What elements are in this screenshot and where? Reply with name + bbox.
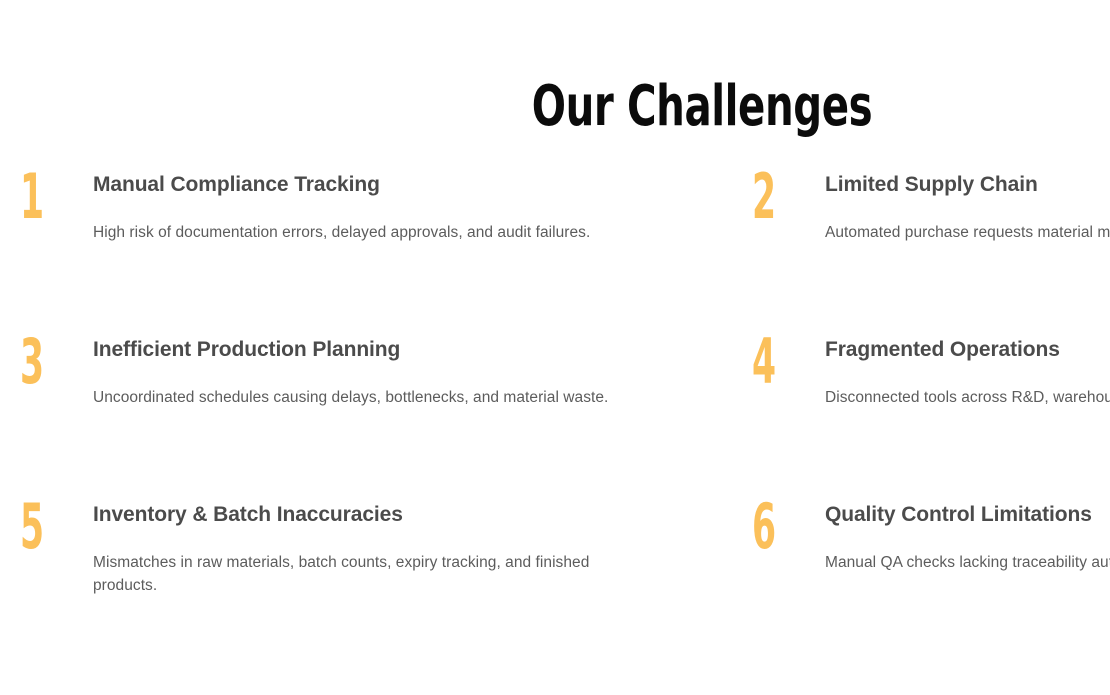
challenge-heading-1: Manual Compliance Tracking xyxy=(93,172,673,198)
challenge-description-2: Automated purchase requests material mov… xyxy=(825,198,1110,244)
challenge-description-5: Mismatches in raw materials, batch count… xyxy=(93,528,655,597)
challenge-heading-5: Inventory & Batch Inaccuracies xyxy=(93,502,673,528)
challenge-heading-2: Limited Supply Chain xyxy=(825,172,1110,198)
challenge-description-6: Manual QA checks lacking traceability au… xyxy=(825,528,1110,574)
challenge-number-4: 4 xyxy=(752,331,785,393)
challenge-heading-4: Fragmented Operations xyxy=(825,337,1110,363)
challenge-description-1: High risk of documentation errors, delay… xyxy=(93,198,655,244)
challenge-body-3: Inefficient Production Planning Uncoordi… xyxy=(93,337,673,409)
challenge-body-1: Manual Compliance Tracking High risk of … xyxy=(93,172,673,244)
challenge-body-6: Quality Control Limitations Manual QA ch… xyxy=(825,502,1110,574)
challenge-body-2: Limited Supply Chain Automated purchase … xyxy=(825,172,1110,244)
challenge-number-3: 3 xyxy=(20,331,53,393)
challenges-grid: 1 Manual Compliance Tracking High risk o… xyxy=(0,0,1110,695)
challenges-slide: Our Challenges 1 Manual Compliance Track… xyxy=(0,0,1110,695)
challenge-number-1: 1 xyxy=(20,166,53,228)
challenge-heading-6: Quality Control Limitations xyxy=(825,502,1110,528)
challenge-number-6: 6 xyxy=(752,496,785,558)
challenge-body-5: Inventory & Batch Inaccuracies Mismatche… xyxy=(93,502,673,597)
challenge-heading-3: Inefficient Production Planning xyxy=(93,337,673,363)
challenge-description-3: Uncoordinated schedules causing delays, … xyxy=(93,363,655,409)
challenge-number-5: 5 xyxy=(20,496,53,558)
challenge-description-4: Disconnected tools across R&D, warehousi… xyxy=(825,363,1110,409)
challenge-body-4: Fragmented Operations Disconnected tools… xyxy=(825,337,1110,409)
challenge-number-2: 2 xyxy=(752,166,785,228)
